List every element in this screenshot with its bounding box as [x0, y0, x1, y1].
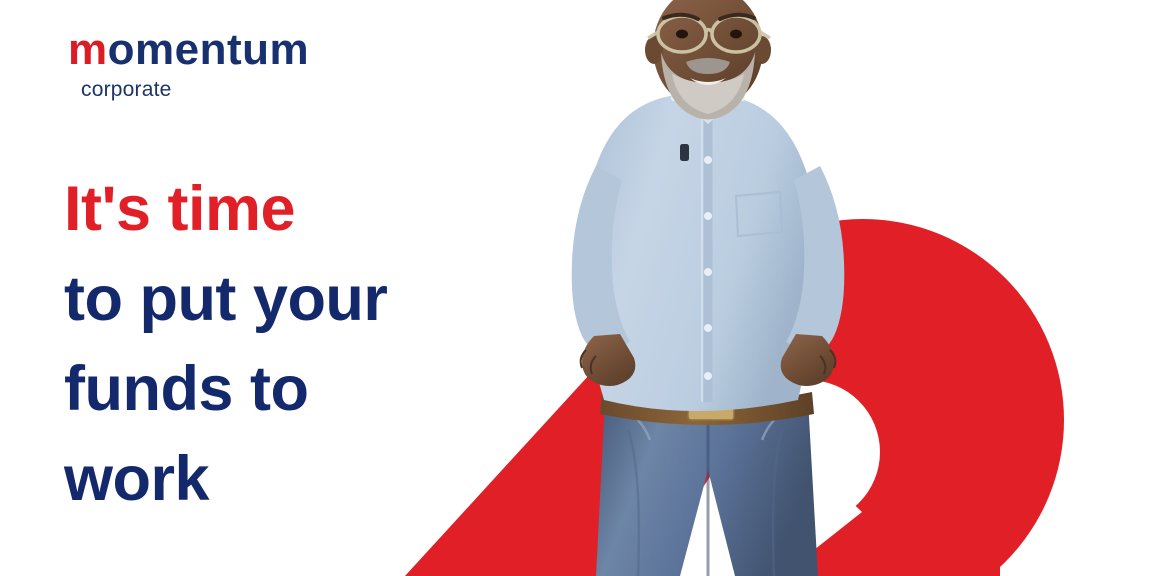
presenter-photo [520, 0, 900, 576]
headline-line-3: funds to [64, 344, 534, 434]
logo-initial-m: m [68, 25, 108, 74]
headline-line-4: work [64, 434, 534, 524]
momentum-corporate-logo[interactable]: momentum corporate [68, 28, 309, 100]
logo-subtitle: corporate [81, 79, 309, 100]
headline-line-2: to put your [64, 254, 534, 344]
slide-canvas: momentum corporate It's time to put your… [0, 0, 1152, 576]
logo-wordmark-rest: omentum [108, 25, 310, 74]
logo-wordmark: momentum [68, 28, 309, 72]
headline-line-1: It's time [64, 164, 534, 254]
headline: It's time to put your funds to work [64, 164, 534, 524]
